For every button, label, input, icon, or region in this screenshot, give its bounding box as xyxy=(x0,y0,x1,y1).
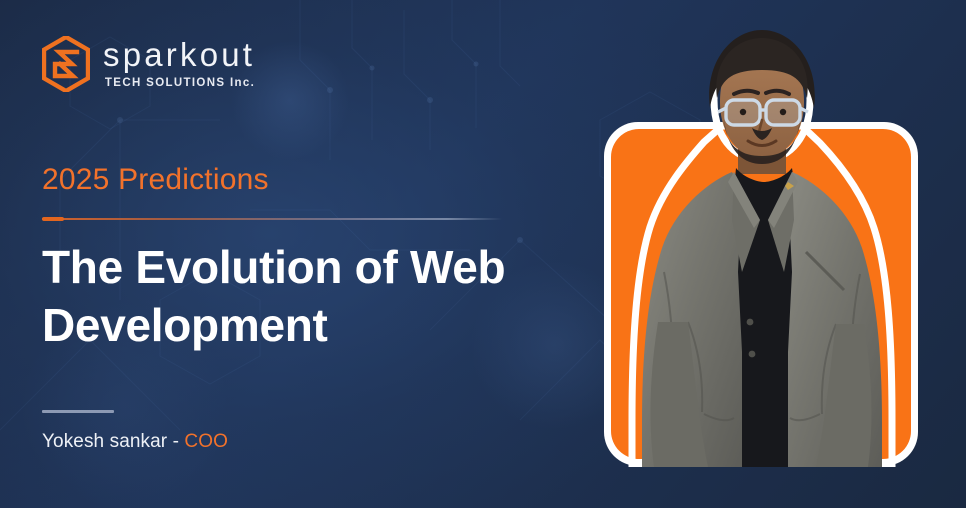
byline-block: Yokesh sankar - COO xyxy=(42,410,228,453)
page-title: The Evolution of Web Development xyxy=(42,238,562,355)
speaker-portrait-photo xyxy=(592,22,930,467)
headline-block: 2025 Predictions The Evolution of Web De… xyxy=(42,163,562,355)
byline: Yokesh sankar - COO xyxy=(42,431,228,453)
byline-name: Yokesh sankar - xyxy=(42,431,184,452)
byline-rule xyxy=(42,410,114,413)
logo-name: sparkout xyxy=(103,38,255,71)
brand-logo: sparkout TECH SOLUTIONS Inc. xyxy=(42,36,255,92)
sparkout-hexagon-s-icon xyxy=(42,36,90,92)
speaker-portrait-card xyxy=(604,122,918,466)
headline-line-2: Development xyxy=(42,296,562,354)
portrait-illustration xyxy=(592,22,930,467)
accent-divider xyxy=(42,217,502,221)
hexagon-s-glyph xyxy=(42,36,90,92)
logo-wordmark: sparkout TECH SOLUTIONS Inc. xyxy=(103,38,255,90)
presentation-banner: sparkout TECH SOLUTIONS Inc. 2025 Predic… xyxy=(0,0,966,508)
byline-role: COO xyxy=(184,431,228,452)
divider-cap xyxy=(42,217,64,221)
headline-line-1: The Evolution of Web xyxy=(42,238,562,296)
logo-tagline: TECH SOLUTIONS Inc. xyxy=(105,78,255,90)
eyebrow-text: 2025 Predictions xyxy=(42,163,562,196)
divider-line xyxy=(42,218,502,220)
